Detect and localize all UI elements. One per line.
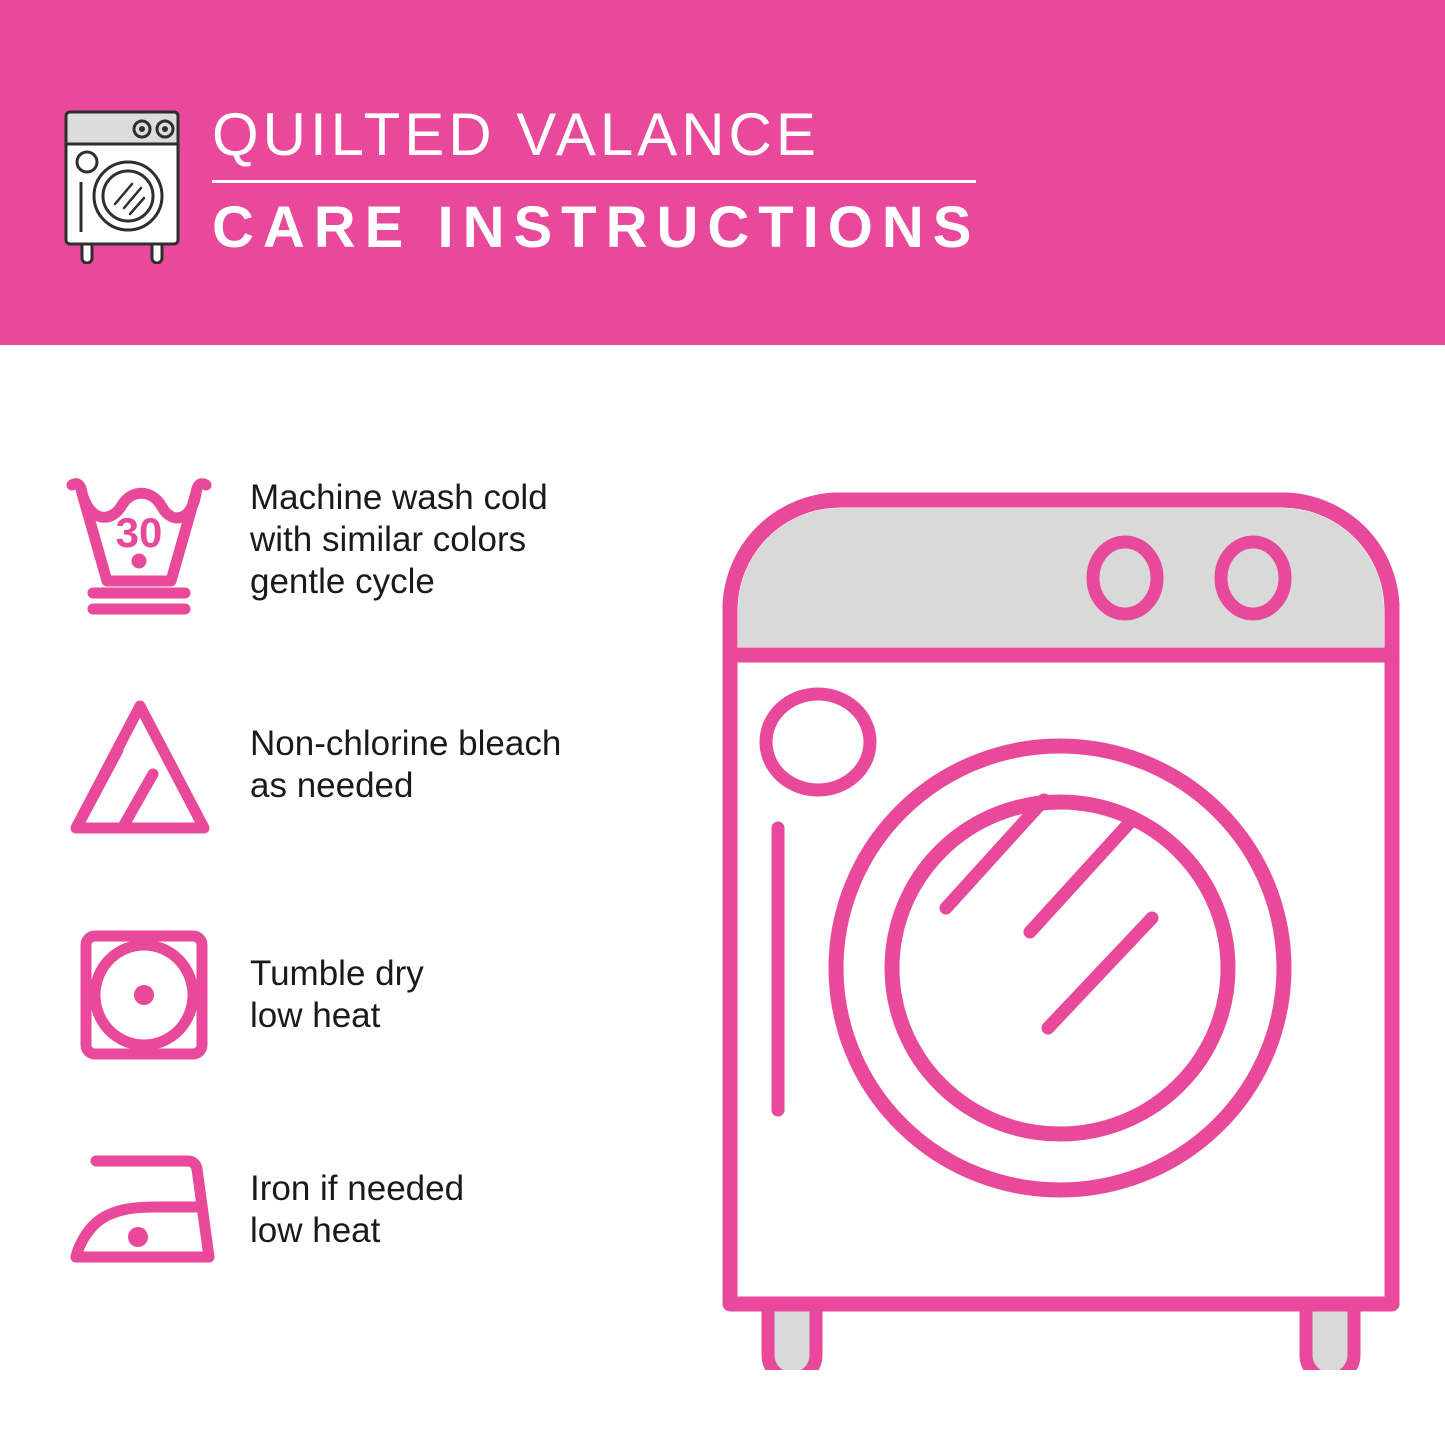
care-text-machine-wash: Machine wash cold with similar colors ge…	[250, 477, 548, 603]
care-line: Iron if needed	[250, 1168, 464, 1210]
care-row-bleach: Non-chlorine bleach as needed	[60, 680, 640, 850]
title-divider	[212, 180, 976, 183]
care-line: Tumble dry	[250, 953, 424, 995]
care-line: Non-chlorine bleach	[250, 723, 561, 765]
care-line: low heat	[250, 995, 424, 1037]
care-text-iron: Iron if needed low heat	[250, 1168, 464, 1252]
care-line: gentle cycle	[250, 561, 548, 603]
non-chlorine-bleach-triangle-icon	[60, 685, 225, 845]
care-line: low heat	[250, 1210, 464, 1252]
wash-temperature-label: 30	[116, 509, 163, 556]
page-title: QUILTED VALANCE	[212, 100, 1002, 170]
washing-machine-illustration	[700, 470, 1400, 1370]
care-line: as needed	[250, 765, 561, 807]
care-line: with similar colors	[250, 519, 548, 561]
page-subtitle: CARE INSTRUCTIONS	[212, 195, 1002, 261]
washing-machine-icon	[60, 104, 190, 264]
wash-dot-icon	[132, 553, 147, 568]
care-row-machine-wash: 30 Machine wash cold with similar colors…	[60, 455, 640, 625]
care-line: Machine wash cold	[250, 477, 548, 519]
care-text-bleach: Non-chlorine bleach as needed	[250, 723, 561, 807]
care-instructions-page: QUILTED VALANCE CARE INSTRUCTIONS	[0, 0, 1445, 1445]
knob-right	[1221, 542, 1285, 614]
wash-tub-30-icon: 30	[60, 460, 225, 620]
care-row-iron: Iron if needed low heat	[60, 1125, 640, 1295]
door-inner-ring	[892, 802, 1228, 1134]
care-row-tumble-dry: Tumble dry low heat	[60, 910, 640, 1080]
knob-left	[1093, 542, 1157, 614]
tumble-dry-low-icon	[60, 915, 225, 1075]
care-text-tumble-dry: Tumble dry low heat	[250, 953, 424, 1037]
tumble-dry-dot-icon	[134, 985, 154, 1005]
header-text-block: QUILTED VALANCE CARE INSTRUCTIONS	[212, 100, 1002, 261]
header-banner: QUILTED VALANCE CARE INSTRUCTIONS	[0, 0, 1445, 345]
iron-dot-icon	[128, 1227, 148, 1247]
iron-low-heat-icon	[60, 1130, 225, 1290]
detergent-dispenser	[766, 694, 870, 790]
